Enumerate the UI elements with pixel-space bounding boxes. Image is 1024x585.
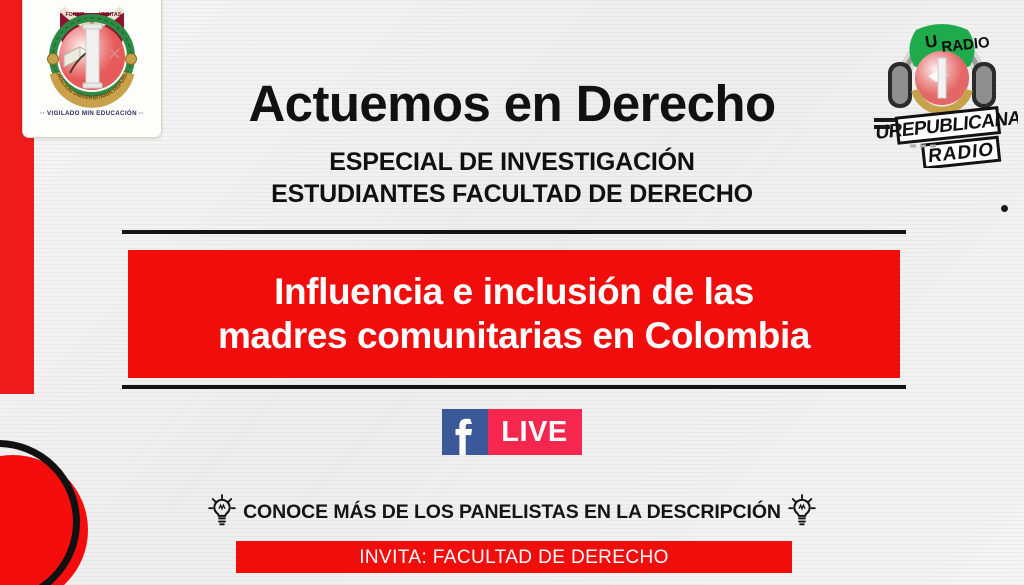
urepublicana-radio-logo-icon: U RADIO UREPUBLICANA RADIO xyxy=(866,0,1018,168)
divider-bottom xyxy=(122,385,906,389)
topic-banner-line-2: madres comunitarias en Colombia xyxy=(218,314,810,358)
event-poster: FORTIS VERITAS 1980 xyxy=(0,0,1024,585)
facebook-f-icon[interactable] xyxy=(442,409,488,455)
topic-banner-text: Influencia e inclusión de las madres com… xyxy=(208,270,820,357)
university-crest-card: FORTIS VERITAS 1980 xyxy=(22,0,162,138)
facebook-live-badge[interactable]: LIVE xyxy=(0,409,1024,455)
university-crest-icon: FORTIS VERITAS 1980 xyxy=(34,0,150,109)
subtitle-line-2: ESTUDIANTES FACULTAD DE DERECHO xyxy=(0,178,1024,210)
panelists-note-text: CONOCE MÁS DE LOS PANELISTAS EN LA DESCR… xyxy=(243,501,781,524)
facebook-live-badge-inner[interactable]: LIVE xyxy=(442,409,581,455)
invite-text: INVITA: FACULTAD DE DERECHO xyxy=(359,548,669,567)
topic-banner-line-1: Influencia e inclusión de las xyxy=(218,270,810,314)
invite-bar: INVITA: FACULTAD DE DERECHO xyxy=(236,541,792,573)
crest-caption: ·· VIGILADO MIN EDUCACIÓN ·· xyxy=(40,110,144,117)
svg-text:U: U xyxy=(924,31,939,52)
divider-top xyxy=(122,230,906,234)
lightbulb-icon xyxy=(787,492,817,533)
panelists-note-row: CONOCE MÁS DE LOS PANELISTAS EN LA DESCR… xyxy=(0,492,1024,533)
live-badge[interactable]: LIVE xyxy=(488,409,581,455)
live-label: LIVE xyxy=(501,418,567,447)
topic-banner: Influencia e inclusión de las madres com… xyxy=(128,250,900,378)
lightbulb-icon xyxy=(207,492,237,533)
